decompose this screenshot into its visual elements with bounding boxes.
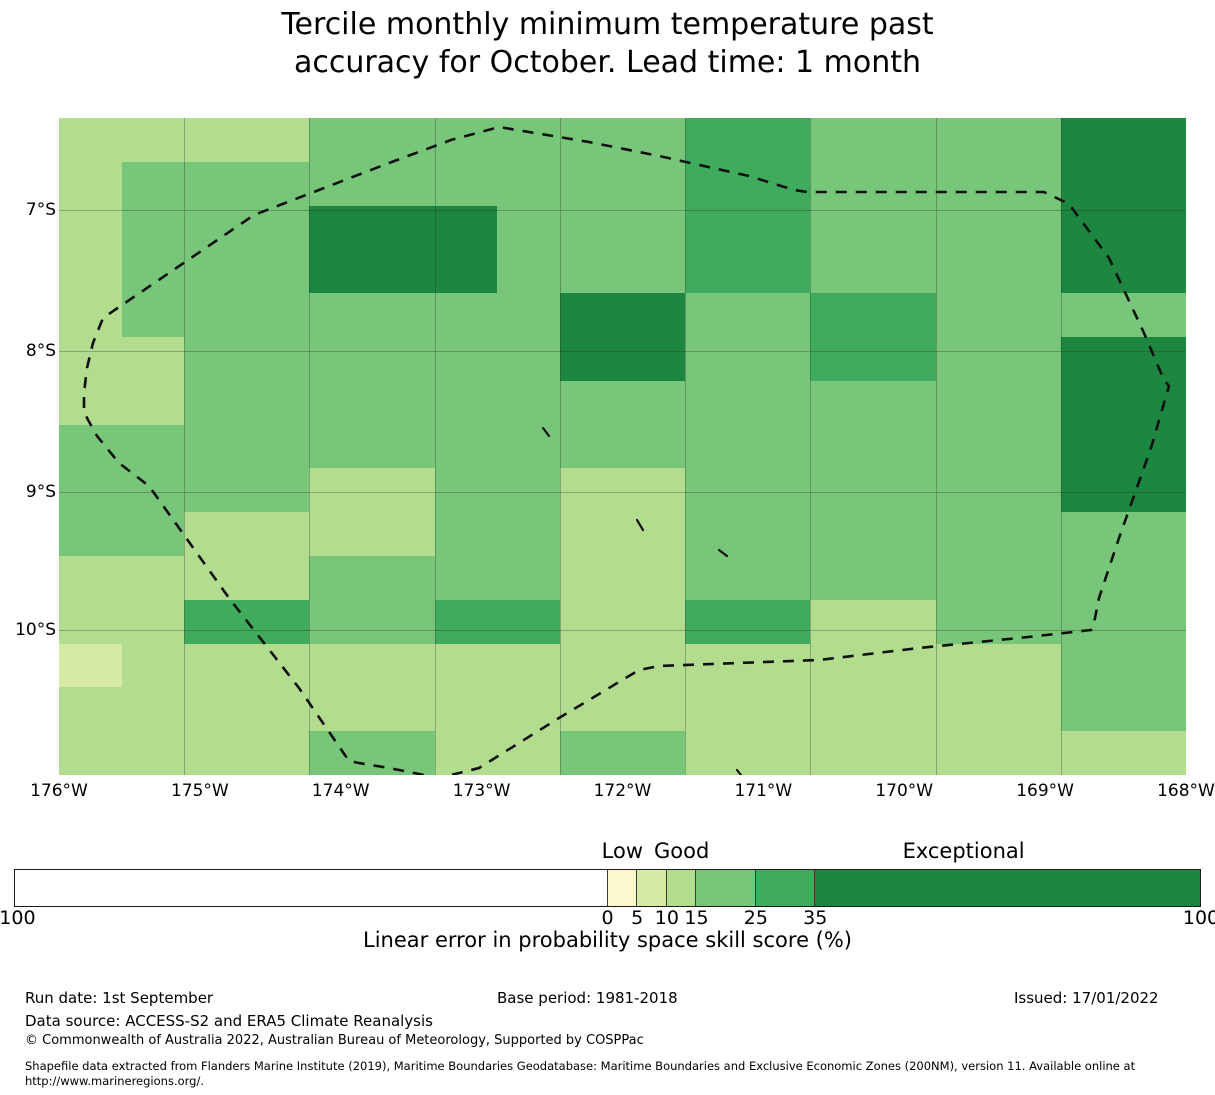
colorbar-tick: 35 — [755, 909, 875, 928]
issued-date-text: Issued: 17/01/2022 — [1014, 990, 1159, 1007]
run-date-text: Run date: 1st September — [25, 990, 213, 1007]
colorbar-band[interactable] — [756, 870, 815, 906]
y-axis-tick: 9°S — [0, 484, 56, 501]
x-axis-tick: 170°W — [844, 783, 964, 800]
y-axis-tick: 7°S — [0, 202, 56, 219]
map-plot-area — [59, 118, 1186, 775]
x-axis-tick: 175°W — [140, 783, 260, 800]
colorbar-band[interactable] — [608, 870, 638, 906]
colorbar[interactable] — [14, 869, 1201, 907]
base-period-text: Base period: 1981-2018 — [497, 990, 678, 1007]
colorbar-band[interactable] — [696, 870, 755, 906]
colorbar-band[interactable] — [637, 870, 667, 906]
title-line-1: Tercile monthly minimum temperature past — [0, 6, 1215, 44]
colorbar-axis-label: Linear error in probability space skill … — [0, 928, 1215, 952]
page-title: Tercile monthly minimum temperature past… — [0, 6, 1215, 82]
data-source-text: Data source: ACCESS-S2 and ERA5 Climate … — [25, 1013, 433, 1030]
x-axis-tick: 174°W — [281, 783, 401, 800]
colorbar-tick: -100 — [0, 909, 74, 928]
island-coastlines — [543, 428, 741, 775]
colorbar-band[interactable] — [15, 870, 608, 906]
x-axis-tick: 169°W — [985, 783, 1105, 800]
colorbar-category-label: Exceptional — [834, 841, 1094, 862]
x-axis-tick: 172°W — [563, 783, 683, 800]
colorbar-band[interactable] — [667, 870, 697, 906]
shapefile-attribution-text: Shapefile data extracted from Flanders M… — [25, 1059, 1200, 1089]
copyright-text: © Commonwealth of Australia 2022, Austra… — [25, 1033, 644, 1048]
colorbar-tick: 100 — [1141, 909, 1215, 928]
x-axis-tick: 173°W — [422, 783, 542, 800]
eez-boundary-path — [84, 127, 1169, 775]
x-axis-tick: 168°W — [1126, 783, 1215, 800]
colorbar-category-label: Good — [552, 841, 812, 862]
colorbar-band[interactable] — [815, 870, 1200, 906]
x-axis-tick: 171°W — [703, 783, 823, 800]
eez-boundary-overlay — [59, 118, 1186, 775]
title-line-2: accuracy for October. Lead time: 1 month — [0, 44, 1215, 82]
y-axis-tick: 10°S — [0, 622, 56, 639]
x-axis-tick: 176°W — [0, 783, 119, 800]
y-axis-tick: 8°S — [0, 343, 56, 360]
